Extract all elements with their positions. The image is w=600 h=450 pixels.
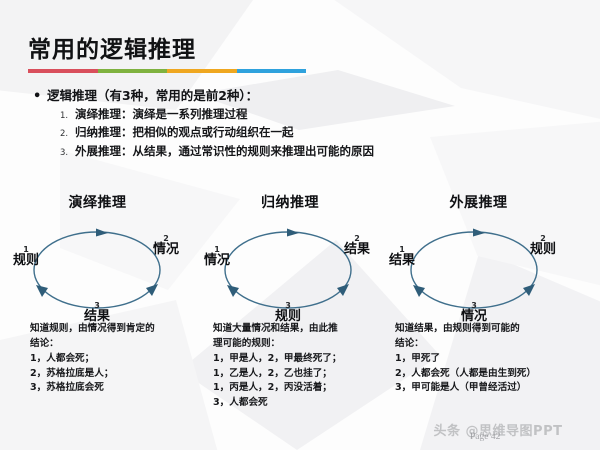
diagram-heading: 外展推理 [385,192,600,212]
list-item-label: 归纳推理：把相似的观点或行动组织在一起 [75,126,294,140]
bullet-lead-text: 逻辑推理（有3种，常用的是前2种）： [47,88,258,104]
cycle-node-label: 规则 [517,243,569,258]
cycle-node-label: 情况 [191,254,243,269]
title-block: 常用的逻辑推理 [28,38,306,73]
title-accent-bar [28,69,306,73]
diagram-row: 演绎推理 1 规则 2 情况 3 结果 [0,192,600,322]
list-item-label: 演绎推理：演绎是一系列推理过程 [75,108,248,122]
accent-segment-3 [167,69,237,73]
cycle-graphic: 1 规则 2 情况 3 结果 [0,218,195,322]
accent-segment-1 [28,69,98,73]
numbered-list: 1. 演绎推理：演绎是一系列推理过程 2. 归纳推理：把相似的观点或行动组织在一… [33,108,573,158]
slide-canvas: 常用的逻辑推理 • 逻辑推理（有3种，常用的是前2种）： 1. 演绎推理：演绎是… [0,0,600,450]
list-item-number: 1. [60,111,75,121]
note-abductive: 知道结果，由规则得到可能的 结论： 1，甲死了 2，人都会死（人都是由生到死） … [385,322,600,411]
list-item-label: 外展推理：从结果，通过常识性的规则来推理出可能的原因 [75,145,374,159]
diagram-heading: 归纳推理 [195,192,385,212]
cycle-node: 2 规则 [517,235,569,258]
page-title: 常用的逻辑推理 [28,38,306,63]
list-item: 1. 演绎推理：演绎是一系列推理过程 [60,108,573,122]
cycle-node: 2 情况 [140,235,192,258]
cycle-graphic: 1 情况 2 结果 3 规则 [195,218,385,322]
diagram-abductive: 外展推理 1 结果 2 规则 3 情况 [385,192,600,322]
list-item: 2. 归纳推理：把相似的观点或行动组织在一起 [60,126,573,140]
bullet-marker-icon: • [33,90,47,103]
diagram-inductive: 归纳推理 1 情况 2 结果 3 规则 [195,192,385,322]
cycle-node-label: 规则 [0,254,52,269]
cycle-node-label: 结果 [376,254,428,269]
cycle-graphic: 1 结果 2 规则 3 情况 [385,218,600,322]
accent-segment-2 [98,69,168,73]
diagram-heading: 演绎推理 [0,192,195,212]
notes-row: 知道规则，由情况得到肯定的 结论： 1，人都会死； 2，苏格拉底是人； 3，苏格… [0,322,600,411]
cycle-node-label: 情况 [140,243,192,258]
cycle-node: 1 情况 [191,246,243,269]
cycle-node: 1 规则 [0,246,52,269]
page-number: Page 42 [470,432,500,442]
note-inductive: 知道大量情况和结果，由此推 理可能的规则： 1，甲是人，2，甲最终死了； 1，乙… [195,322,385,411]
cycle-node: 1 结果 [376,246,428,269]
bullet-lead-row: • 逻辑推理（有3种，常用的是前2种）： [33,88,573,104]
bullet-list: • 逻辑推理（有3种，常用的是前2种）： 1. 演绎推理：演绎是一系列推理过程 … [33,88,573,159]
note-deductive: 知道规则，由情况得到肯定的 结论： 1，人都会死； 2，苏格拉底是人； 3，苏格… [0,322,195,411]
list-item-number: 2. [60,129,75,139]
diagram-deductive: 演绎推理 1 规则 2 情况 3 结果 [0,192,195,322]
list-item: 3. 外展推理：从结果，通过常识性的规则来推理出可能的原因 [60,145,573,159]
list-item-number: 3. [60,148,75,158]
accent-segment-4 [237,69,307,73]
